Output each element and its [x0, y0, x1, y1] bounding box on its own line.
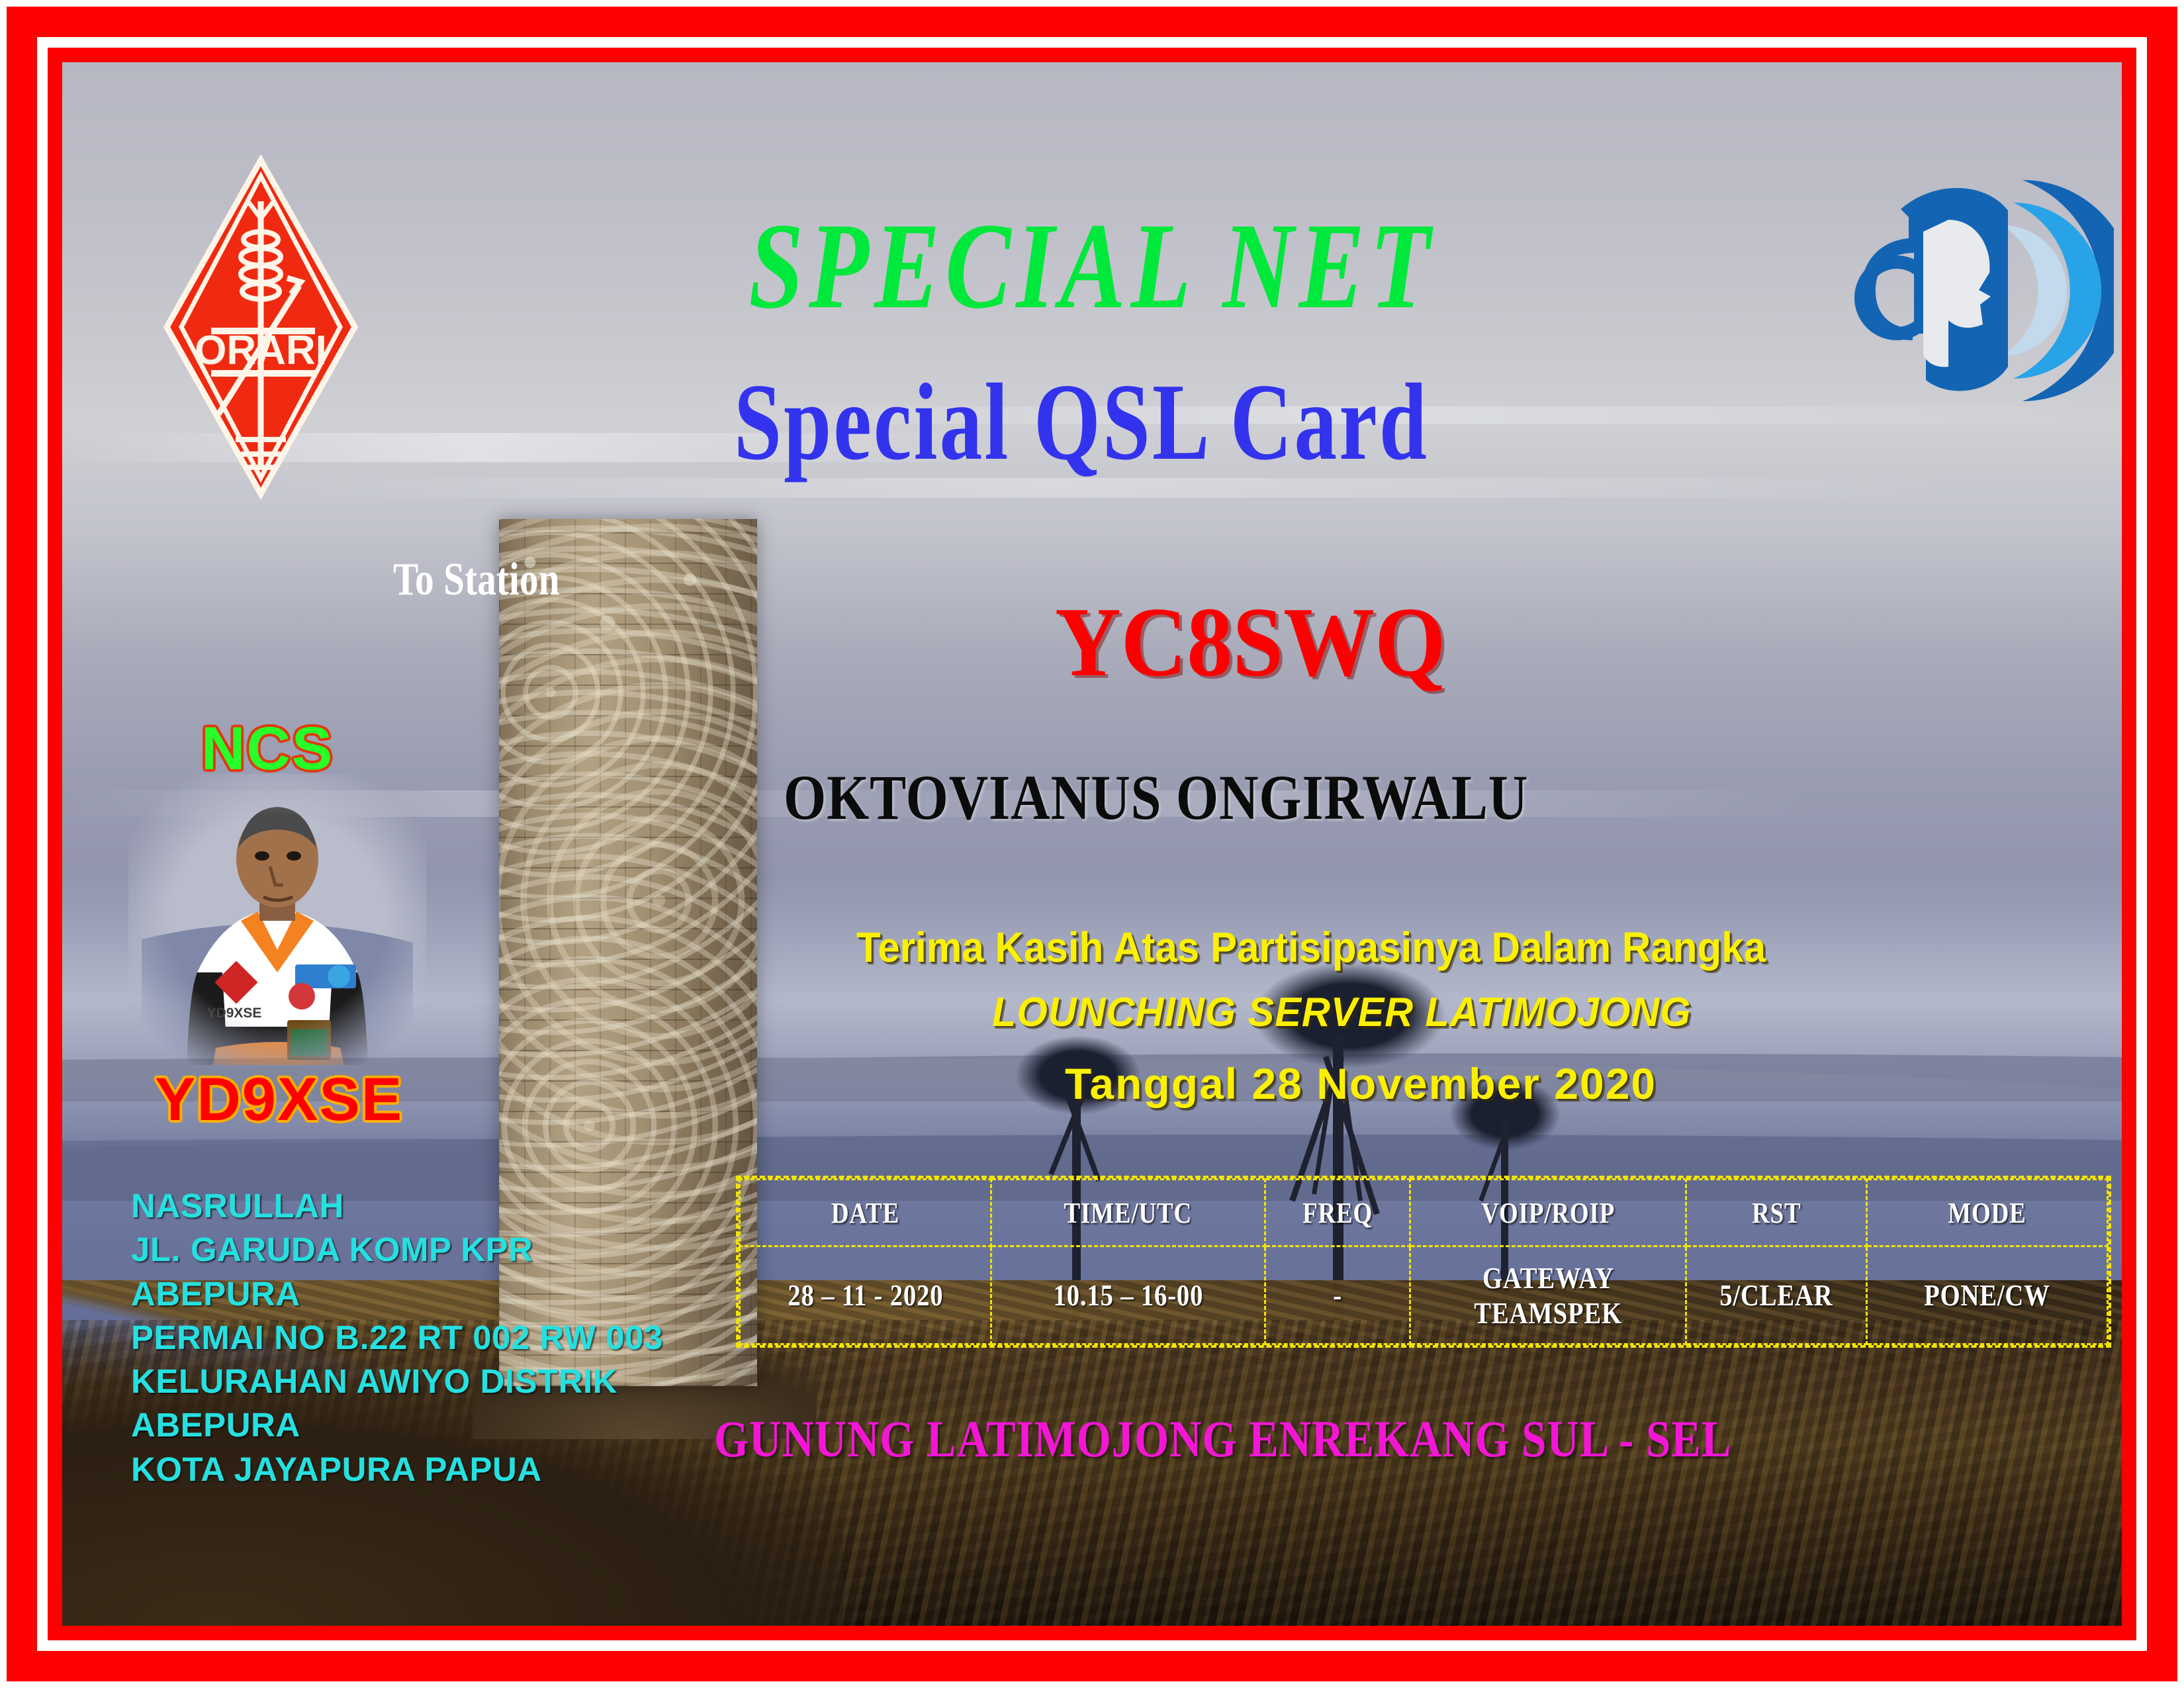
thanks-line: Terima Kasih Atas Partisipasinya Dalam R… [856, 923, 1766, 972]
table-cell-time: 10.15 – 16-00 [991, 1246, 1265, 1344]
table-header-row: DATE TIME/UTC FREQ VOIP/ROIP RST MODE [740, 1180, 2108, 1246]
address-line: ABEPURA [131, 1403, 663, 1447]
table-row: 28 – 11 - 2020 10.15 – 16-00 - GATEWAY T… [740, 1246, 2108, 1344]
qsl-card: ORARI [0, 0, 2184, 1688]
qso-log-table: DATE TIME/UTC FREQ VOIP/ROIP RST MODE 28… [736, 1176, 2111, 1348]
address-block: NASRULLAH JL. GARUDA KOMP KPR ABEPURA PE… [131, 1184, 663, 1491]
table-header-cell: VOIP/ROIP [1410, 1180, 1686, 1246]
address-line: PERMAI NO B.22 RT 002 RW 003 [131, 1316, 663, 1360]
table-cell-freq: - [1265, 1246, 1410, 1344]
table-cell-date: 28 – 11 - 2020 [740, 1246, 991, 1344]
table-header-cell: RST [1686, 1180, 1867, 1246]
orari-logo: ORARI [161, 155, 360, 499]
orari-logo-text: ORARI [195, 328, 327, 373]
table-cell-mode: PONE/CW [1867, 1246, 2108, 1344]
page-title: SPECIAL NET [749, 205, 1435, 328]
svg-text:YD9XSE: YD9XSE [207, 1006, 262, 1021]
background-photo: ORARI [62, 62, 2122, 1626]
table-header-cell: TIME/UTC [991, 1180, 1265, 1246]
headset-radio-logo [1849, 168, 2114, 413]
table-header-cell: DATE [740, 1180, 991, 1246]
ncs-label: NCS [201, 714, 334, 784]
table-cell-rst: 5/CLEAR [1686, 1246, 1867, 1344]
table-header-cell: MODE [1867, 1180, 2108, 1246]
page-subtitle: Special QSL Card [734, 367, 1429, 477]
to-station-label: To Station [393, 553, 559, 606]
ncs-callsign: YD9XSE [155, 1065, 403, 1135]
operator-name: OKTOVIANUS ONGIRWALU [784, 761, 1528, 834]
table-cell-voip: GATEWAY TEAMSPEK [1410, 1246, 1686, 1344]
operator-photo: YD9XSE [128, 774, 426, 1065]
address-line: NASRULLAH [131, 1184, 663, 1228]
address-line: ABEPURA [131, 1272, 663, 1316]
event-date-line: Tanggal 28 November 2020 [1065, 1058, 1657, 1109]
station-callsign: YC8SWQ [1055, 585, 1445, 699]
location-line: GUNUNG LATIMOJONG ENREKANG SUL - SEL [714, 1409, 1731, 1469]
address-line: JL. GARUDA KOMP KPR [131, 1228, 663, 1272]
event-title-line: LOUNCHING SERVER LATIMOJONG [992, 989, 1692, 1036]
table-header-cell: FREQ [1265, 1180, 1410, 1246]
address-line: KELURAHAN AWIYO DISTRIK [131, 1360, 663, 1403]
address-line: KOTA JAYAPURA PAPUA [131, 1448, 663, 1491]
